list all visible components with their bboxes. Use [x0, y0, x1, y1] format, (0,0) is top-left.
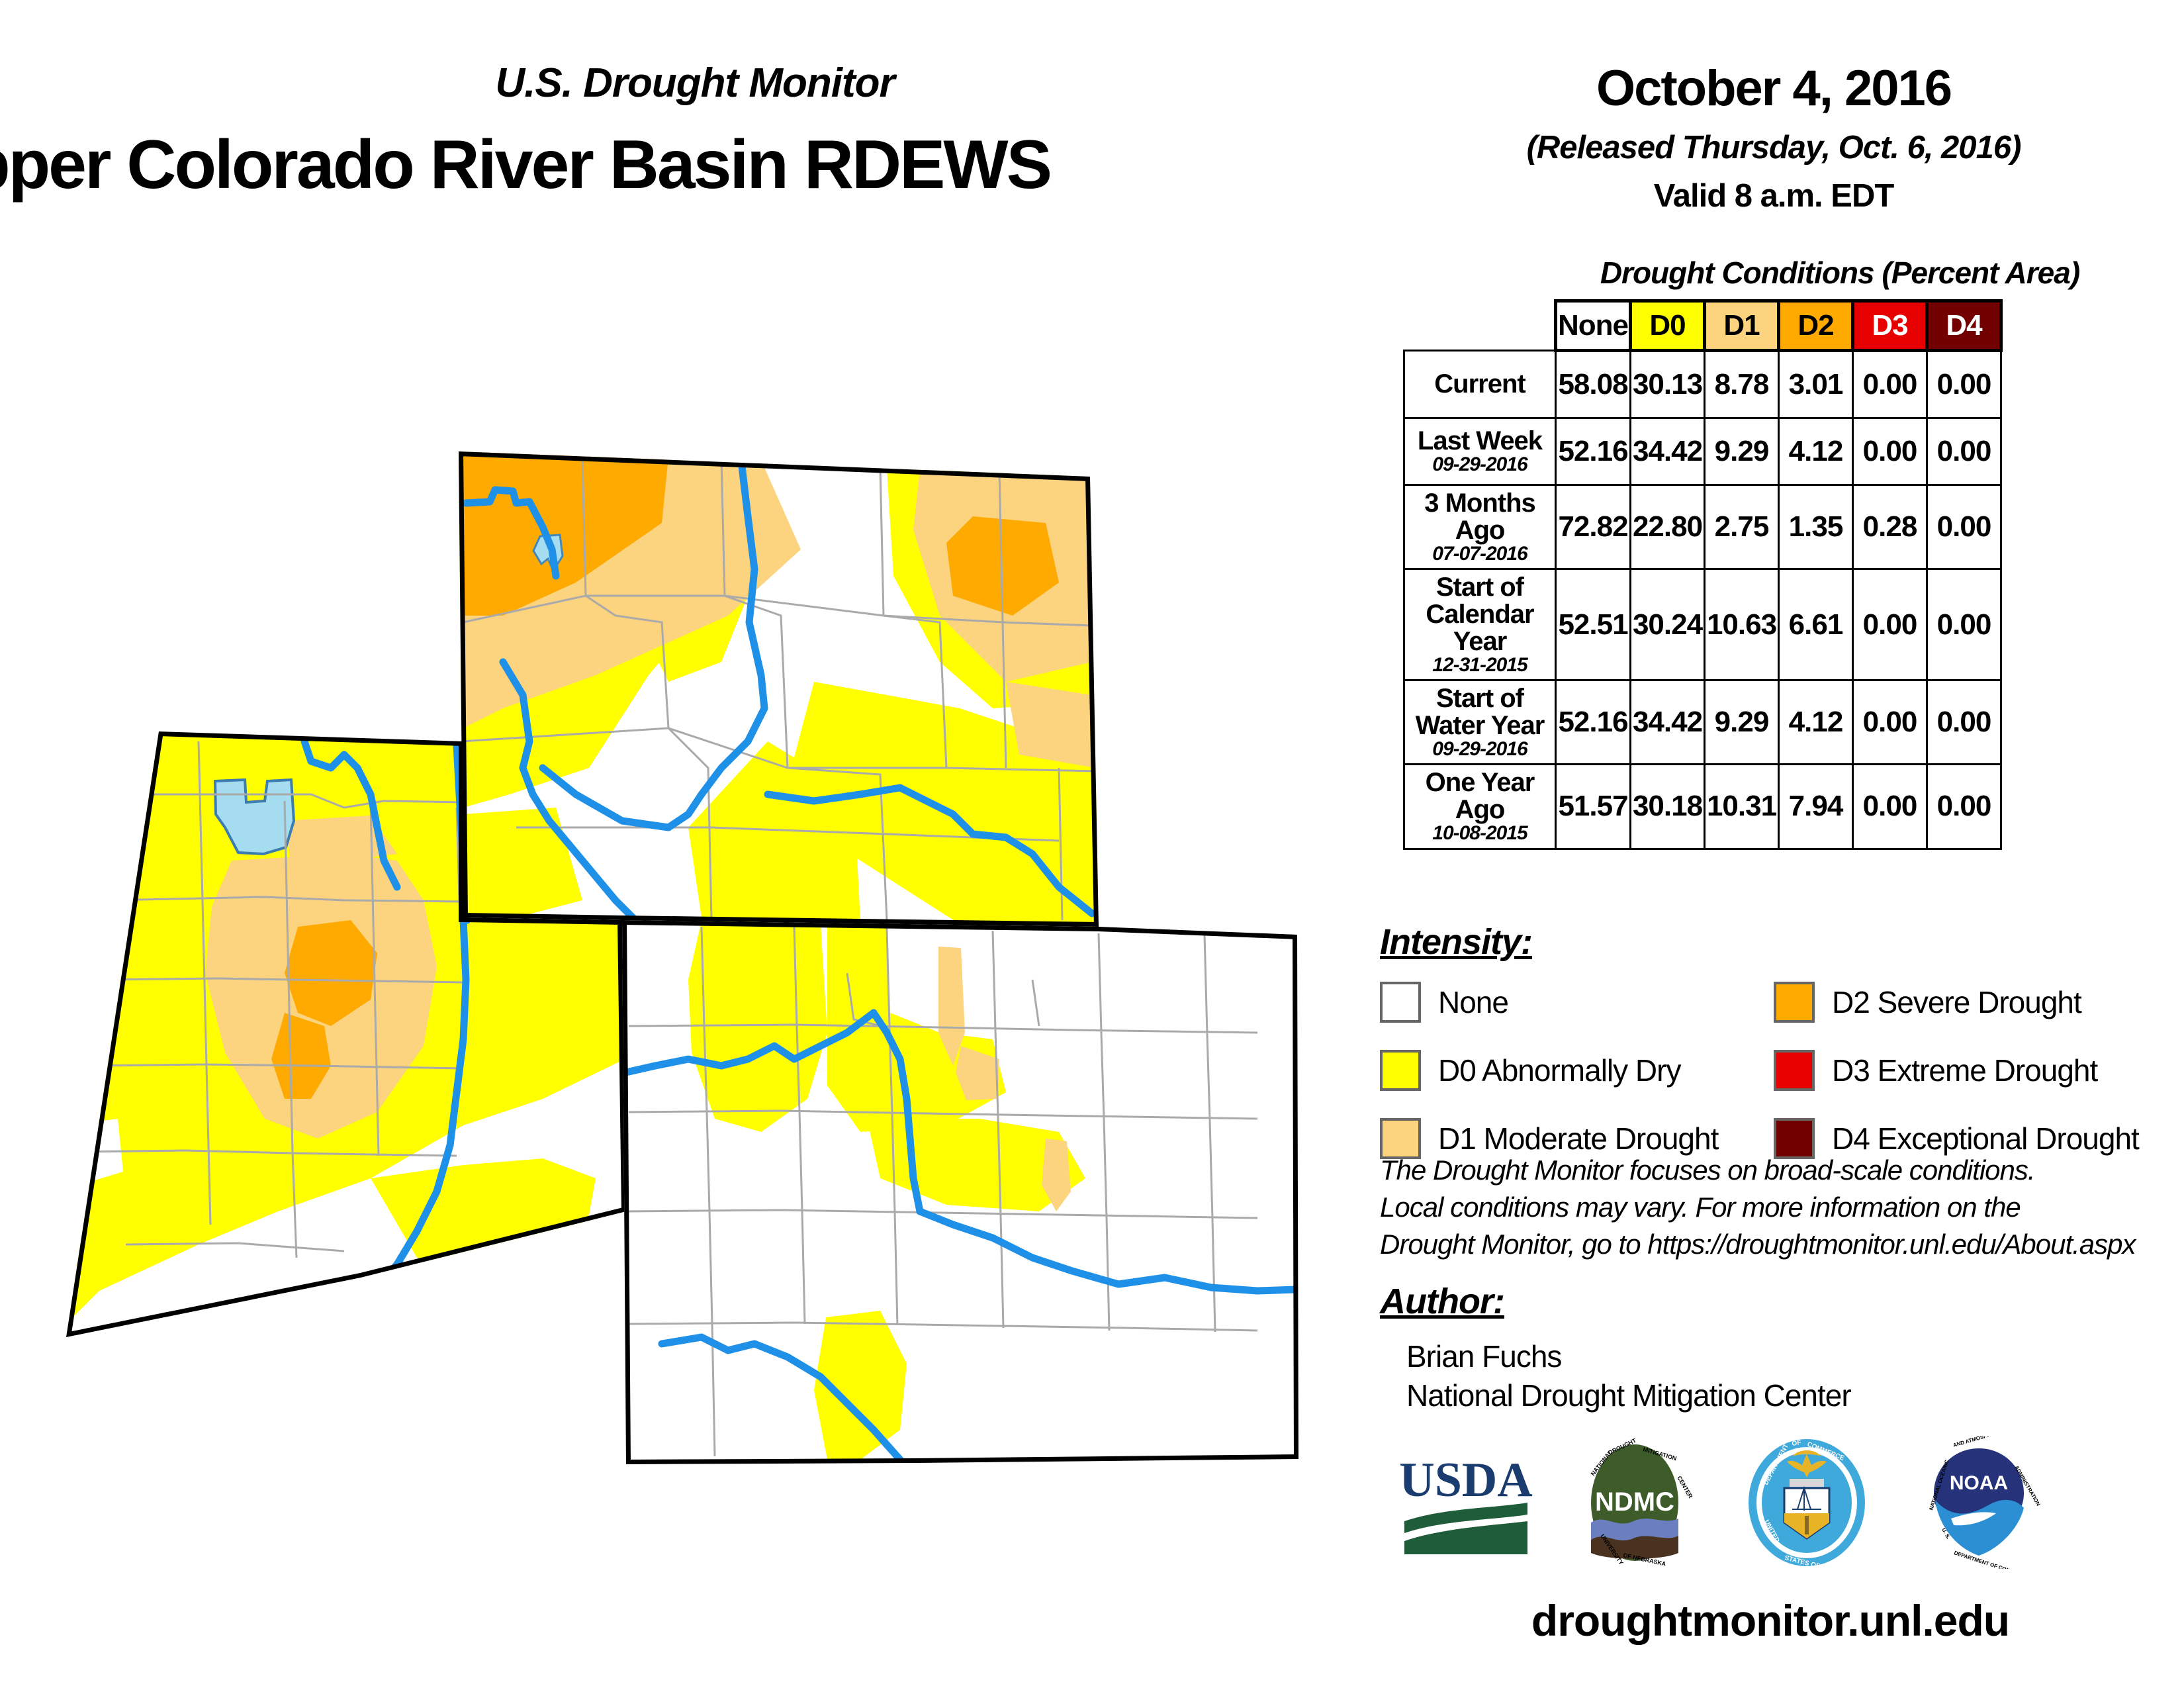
legend-label: D0 Abnormally Dry [1438, 1053, 1680, 1088]
table-cell-d2: 1.35 [1779, 485, 1853, 569]
table-cell-d4: 0.00 [1927, 765, 2001, 849]
table-cell-d4: 0.00 [1927, 485, 2001, 569]
table-cell-none: 58.08 [1556, 351, 1631, 418]
table-row-date: 09-29-2016 [1410, 455, 1549, 475]
table-cell-d2: 4.12 [1779, 680, 1853, 765]
table-cell-d0: 30.24 [1631, 569, 1705, 680]
table-row-date: 12-31-2015 [1410, 655, 1549, 676]
table-row-label: 3 Months Ago07-07-2016 [1404, 485, 1556, 569]
table-row-label: Current [1404, 351, 1556, 418]
table-cell-d3: 0.00 [1853, 680, 1927, 765]
table-cell-d1: 9.29 [1705, 418, 1779, 485]
site-url[interactable]: droughtmonitor.unl.edu [1423, 1595, 2118, 1646]
usda-logo-text: USDA [1399, 1453, 1532, 1507]
table-row: Start ofWater Year09-29-201652.1634.429.… [1404, 680, 2001, 765]
legend-swatch [1380, 1050, 1421, 1091]
disclaimer-line: Drought Monitor, go to https://droughtmo… [1380, 1226, 2136, 1263]
author-details: Brian Fuchs National Drought Mitigation … [1406, 1337, 1851, 1415]
table-cell-d0: 30.13 [1631, 351, 1705, 418]
legend-column-left: NoneD0 Abnormally DryD1 Moderate Drought [1380, 976, 1718, 1181]
disclaimer-text: The Drought Monitor focuses on broad-sca… [1380, 1152, 2136, 1263]
table-cell-d1: 9.29 [1705, 680, 1779, 765]
table-row-date: 10-08-2015 [1410, 823, 1549, 844]
table-cell-d0: 22.80 [1631, 485, 1705, 569]
table-row: 3 Months Ago07-07-201672.8222.802.751.35… [1404, 485, 2001, 569]
legend-column-right: D2 Severe DroughtD3 Extreme DroughtD4 Ex… [1774, 976, 2139, 1181]
table-row-label: Start ofWater Year09-29-2016 [1404, 680, 1556, 765]
table-cell-d1: 2.75 [1705, 485, 1779, 569]
ndmc-logo: NDMC NATIONAL DROUGHT MITIGATION CENTER … [1569, 1436, 1701, 1572]
table-cell-d3: 0.00 [1853, 569, 1927, 680]
table-row-label: Last Week09-29-2016 [1404, 418, 1556, 485]
disclaimer-line: The Drought Monitor focuses on broad-sca… [1380, 1152, 2136, 1189]
table-cell-none: 52.51 [1556, 569, 1631, 680]
table-header-d0: D0 [1631, 301, 1705, 351]
legend-item-right-0: D2 Severe Drought [1774, 976, 2139, 1028]
author-affiliation: National Drought Mitigation Center [1406, 1376, 1851, 1415]
table-cell-d0: 30.18 [1631, 765, 1705, 849]
table-cell-d0: 34.42 [1631, 418, 1705, 485]
ndmc-logo-text: NDMC [1595, 1487, 1674, 1517]
table-cell-d4: 0.00 [1927, 680, 2001, 765]
table-cell-d2: 6.61 [1779, 569, 1853, 680]
page-subtitle: U.S. Drought Monitor [397, 60, 993, 107]
table-header-d3: D3 [1853, 301, 1927, 351]
table-row: Current58.0830.138.783.010.000.00 [1404, 351, 2001, 418]
table-cell-d3: 0.00 [1853, 765, 1927, 849]
table-corner-cell [1404, 301, 1556, 351]
table-cell-none: 72.82 [1556, 485, 1631, 569]
map-state-wyoming [450, 444, 1112, 947]
table-cell-d0: 34.42 [1631, 680, 1705, 765]
table-header-d4: D4 [1927, 301, 2001, 351]
legend-item-right-1: D3 Extreme Drought [1774, 1045, 2139, 1096]
intensity-heading: Intensity: [1380, 921, 1532, 962]
table-row-label: One Year Ago10-08-2015 [1404, 765, 1556, 849]
map-state-colorado [615, 914, 1317, 1470]
table-header-row: NoneD0D1D2D3D4 [1404, 301, 2001, 351]
table-cell-d4: 0.00 [1927, 351, 2001, 418]
table-cell-d3: 0.00 [1853, 418, 1927, 485]
author-heading: Author: [1380, 1281, 1504, 1322]
table-header-d1: D1 [1705, 301, 1779, 351]
table-row-label: Start ofCalendar Year12-31-2015 [1404, 569, 1556, 680]
legend-label: None [1438, 984, 1508, 1020]
legend-label: D1 Moderate Drought [1438, 1121, 1718, 1156]
svg-text:OF: OF [1792, 1439, 1801, 1448]
disclaimer-line: Local conditions may vary. For more info… [1380, 1189, 2136, 1226]
table-cell-d2: 7.94 [1779, 765, 1853, 849]
table-row: One Year Ago10-08-201551.5730.1810.317.9… [1404, 765, 2001, 849]
noaa-logo-text: NOAA [1950, 1472, 2008, 1494]
table-cell-none: 52.16 [1556, 418, 1631, 485]
noaa-logo: NOAA NATIONAL OCEANIC AND ATMOSPHERIC AD… [1913, 1436, 2045, 1572]
legend-item-left-1: D0 Abnormally Dry [1380, 1045, 1718, 1096]
table-cell-d4: 0.00 [1927, 418, 2001, 485]
table-header-d2: D2 [1779, 301, 1853, 351]
table-cell-d3: 0.00 [1853, 351, 1927, 418]
map-date: October 4, 2016 [1482, 60, 2065, 117]
release-date: (Released Thursday, Oct. 6, 2016) [1456, 129, 2091, 166]
table-cell-d3: 0.28 [1853, 485, 1927, 569]
table-row: Start ofCalendar Year12-31-201552.5130.2… [1404, 569, 2001, 680]
table-cell-d2: 3.01 [1779, 351, 1853, 418]
table-cell-d1: 10.63 [1705, 569, 1779, 680]
legend-swatch [1774, 982, 1815, 1023]
usda-logo: USDA [1396, 1436, 1535, 1572]
table-row-date: 07-07-2016 [1410, 544, 1549, 565]
legend-swatch [1380, 982, 1421, 1023]
table-row-date: 09-29-2016 [1410, 739, 1549, 760]
table-cell-none: 52.16 [1556, 680, 1631, 765]
table-cell-d1: 10.31 [1705, 765, 1779, 849]
table-row: Last Week09-29-201652.1634.429.294.120.0… [1404, 418, 2001, 485]
table-title: Drought Conditions (Percent Area) [1542, 255, 2138, 291]
drought-conditions-table: NoneD0D1D2D3D4Current58.0830.138.783.010… [1403, 299, 2003, 850]
legend-label: D3 Extreme Drought [1832, 1053, 2097, 1088]
legend-swatch [1774, 1050, 1815, 1091]
valid-time: Valid 8 a.m. EDT [1482, 177, 2065, 214]
legend-label: D2 Severe Drought [1832, 984, 2081, 1020]
table-cell-d1: 8.78 [1705, 351, 1779, 418]
department-of-commerce-seal: DEPARTMENT OF COMMERCE UNITED STATES OF … [1741, 1436, 1873, 1572]
agency-logos: USDA NDMC NATIONAL DROUGHT MITIGATION CE… [1396, 1436, 2111, 1575]
table-cell-none: 51.57 [1556, 765, 1631, 849]
table-cell-d2: 4.12 [1779, 418, 1853, 485]
legend-label: D4 Exceptional Drought [1832, 1121, 2139, 1156]
page-title: Upper Colorado River Basin RDEWS [0, 126, 1509, 205]
legend-item-left-0: None [1380, 976, 1718, 1028]
table-cell-d4: 0.00 [1927, 569, 2001, 680]
table-header-none: None [1556, 301, 1631, 351]
author-name: Brian Fuchs [1406, 1337, 1851, 1376]
drought-map[interactable] [0, 397, 1357, 1523]
